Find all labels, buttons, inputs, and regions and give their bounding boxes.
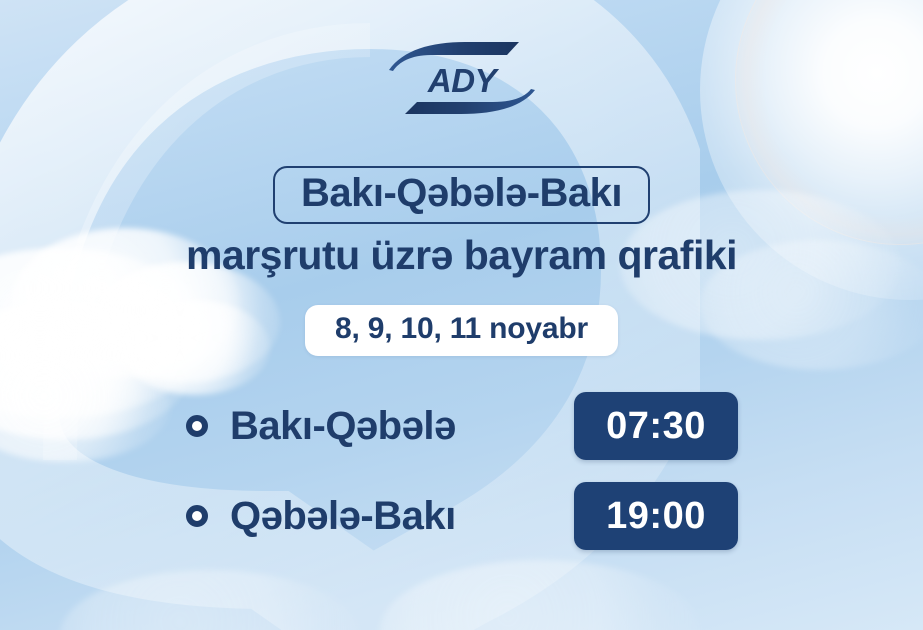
poster-content: ADY Bakı-Qəbələ-Bakı marşrutu üzrə bayra… (0, 0, 923, 630)
route-title-container: Bakı-Qəbələ-Bakı (0, 166, 923, 224)
ady-logo: ADY (0, 40, 923, 115)
schedule-row: Bakı-Qəbələ 07:30 (186, 392, 738, 460)
schedule-route-label: Qəbələ-Bakı (230, 494, 456, 539)
poster-canvas: ADY Bakı-Qəbələ-Bakı marşrutu üzrə bayra… (0, 0, 923, 630)
ring-bullet-icon (186, 505, 208, 527)
schedule-row: Qəbələ-Bakı 19:00 (186, 482, 738, 550)
ring-bullet-icon (186, 415, 208, 437)
dates-container: 8, 9, 10, 11 noyabr (0, 305, 923, 356)
schedule-time-badge: 07:30 (574, 392, 738, 460)
dates-badge: 8, 9, 10, 11 noyabr (305, 305, 618, 356)
schedule-route-label: Bakı-Qəbələ (230, 404, 456, 449)
route-title: Bakı-Qəbələ-Bakı (273, 166, 650, 224)
schedule-list: Bakı-Qəbələ 07:30 Qəbələ-Bakı 19:00 (186, 392, 738, 550)
schedule-time-badge: 19:00 (574, 482, 738, 550)
subtitle: marşrutu üzrə bayram qrafiki (0, 232, 923, 279)
logo-wordmark: ADY (426, 62, 499, 99)
